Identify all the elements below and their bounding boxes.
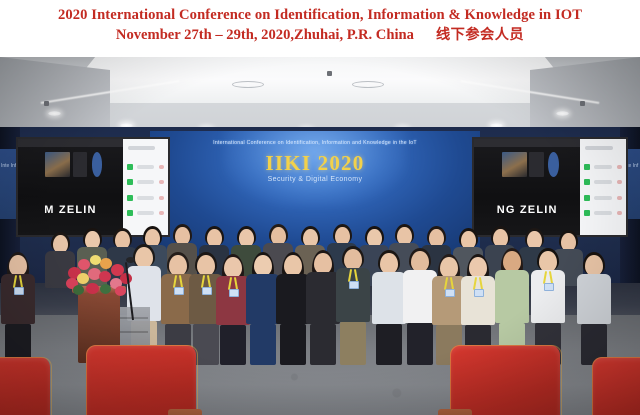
attendee-torso: [216, 276, 250, 325]
conference-title-line1: 2020 International Conference on Identif…: [0, 0, 640, 23]
attendee-legs: [280, 324, 306, 365]
attendee-legs: [376, 324, 402, 365]
auditorium-seat-3-armrest: [438, 409, 472, 415]
attendee-front-row: [276, 253, 310, 365]
auditorium-seat-2: [86, 345, 196, 415]
attendee-head: [440, 257, 458, 278]
attendee-badge: [474, 289, 484, 297]
attendee-head: [284, 255, 302, 276]
attendee-torso: [372, 272, 406, 324]
attendee-torso: [306, 272, 340, 324]
conference-title-block: 2020 International Conference on Identif…: [0, 0, 640, 57]
attendee-legs: [220, 325, 246, 365]
conference-title-chinese: 线下参会人员: [436, 27, 524, 43]
attendee-head: [169, 255, 187, 276]
attendee-torso: [577, 274, 611, 324]
attendee-front-row: [577, 253, 611, 365]
attendee-badge: [14, 287, 24, 295]
attendee-torso: [276, 274, 310, 324]
conference-date-location: November 27th – 29th, 2020,Zhuhai, P.R. …: [116, 27, 414, 43]
attendee-badge: [544, 283, 554, 291]
attendee-head: [411, 251, 429, 272]
attendee-badge: [349, 281, 359, 289]
attendee-front-row: [1, 253, 35, 365]
attendee-torso: [246, 274, 280, 324]
conference-title-line2: November 27th – 29th, 2020,Zhuhai, P.R. …: [0, 23, 640, 43]
auditorium-seat-3: [450, 345, 560, 415]
attendee-torso: [495, 270, 529, 323]
attendee-head: [344, 249, 362, 270]
attendee-legs: [250, 324, 276, 365]
attendee-front-row: [336, 247, 370, 365]
auditorium-seat-1: [0, 357, 50, 415]
auditorium-seat-2-armrest: [168, 409, 202, 415]
attendee-legs: [340, 322, 366, 365]
attendee-front-row: [246, 253, 280, 365]
attendee-head: [314, 253, 332, 274]
attendee-legs: [407, 323, 433, 365]
attendee-head: [585, 255, 603, 276]
attendee-head: [469, 257, 487, 278]
attendee-badge: [229, 289, 239, 297]
attendee-head: [224, 257, 242, 278]
attendee-badge: [174, 287, 184, 295]
attendee-front-row: [306, 251, 340, 365]
attendee-badge: [202, 287, 212, 295]
attendee-legs: [310, 324, 336, 365]
auditorium-seat-4: [592, 357, 640, 415]
attendee-head: [539, 251, 557, 272]
attendee-head: [9, 255, 27, 276]
microphone-head: [126, 257, 135, 263]
attendee-head: [197, 255, 215, 276]
attendee-front-row: [216, 255, 250, 365]
attendee-front-row: [372, 251, 406, 365]
attendee-head: [254, 255, 272, 276]
attendee-torso: [336, 268, 370, 322]
attendee-head: [503, 251, 521, 272]
screenshot-root: 2020 International Conference on Identif…: [0, 0, 640, 415]
attendee-torso: [461, 276, 495, 325]
group-photo: Inte Inf Inte Inf International Conferen…: [0, 57, 640, 415]
attendee-torso: [1, 274, 35, 324]
attendee-torso: [531, 270, 565, 323]
attendee-badge: [445, 289, 455, 297]
attendee-head: [380, 253, 398, 274]
